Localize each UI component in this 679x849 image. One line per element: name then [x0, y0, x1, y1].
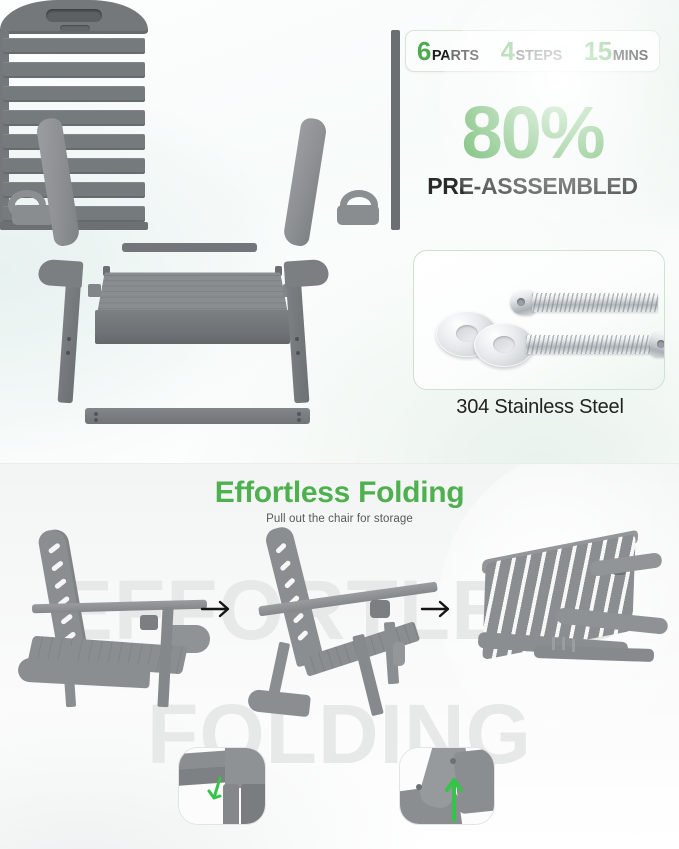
badge-steps-number: 4 — [501, 38, 515, 64]
washer-icon — [474, 323, 534, 367]
back-slat — [3, 62, 145, 78]
detail-bolt — [416, 784, 422, 790]
cross-rail — [122, 243, 257, 252]
seat-assembly — [95, 270, 290, 345]
exploded-chair-diagram — [0, 0, 400, 460]
cupholder-pad-left — [12, 205, 54, 225]
backrest-slot — [297, 630, 309, 642]
badge-mins: 15 MINS — [584, 38, 648, 64]
badge-parts: 6 PARTS — [417, 38, 479, 64]
bolt-shaft — [526, 335, 654, 354]
backrest-slot — [51, 560, 64, 572]
chair-step-folded — [478, 549, 668, 674]
bolt-icon — [526, 335, 665, 354]
chair-hinge — [140, 615, 158, 630]
backrest-slot — [60, 613, 73, 625]
pre-assembled-caption: PRE-ASSSEMBLED — [405, 175, 660, 198]
seat-lower-rail — [95, 330, 290, 344]
bolt-head — [650, 332, 665, 357]
detail-back-leg — [225, 747, 266, 788]
carry-handle-cutout — [46, 9, 102, 22]
chair-back-panel — [0, 0, 148, 222]
pre-assembled-percent: 80% — [405, 96, 660, 170]
arrow-1 — [200, 597, 234, 621]
badge-mins-label: MINS — [613, 49, 648, 64]
bottom-brace — [85, 408, 310, 424]
back-slat — [3, 110, 145, 126]
brace-bolt-hole — [94, 418, 98, 422]
spec-badge-bar: 6 PARTS 4 STEPS 15 MINS — [405, 30, 660, 72]
folded-pin — [562, 637, 565, 650]
washer-hole — [493, 336, 515, 353]
back-rail-left — [0, 30, 9, 230]
chair-step-open — [12, 529, 222, 709]
green-arrow-icon — [207, 776, 229, 810]
folding-demo-section: EFFORTLESS FOLDING Effortless Folding Pu… — [0, 463, 679, 849]
right-leg — [286, 275, 310, 404]
back-rail-right — [391, 30, 400, 230]
hardware-material-label: 304 Stainless Steel — [405, 396, 675, 419]
right-armrest — [282, 117, 328, 247]
bolt-shaft — [532, 293, 658, 312]
leg-foot — [38, 259, 84, 288]
leg-foot — [284, 259, 330, 288]
hardware-photo-panel — [413, 250, 665, 390]
chair-backrest — [263, 525, 324, 668]
green-arrow-icon — [444, 774, 464, 822]
callout-hinge-detail — [399, 747, 495, 825]
brace-bolt-hole — [297, 418, 301, 422]
badge-steps-label: STEPS — [516, 49, 563, 64]
back-slat — [3, 134, 145, 150]
backrest-slot — [284, 577, 296, 589]
backrest-slot — [279, 560, 291, 572]
back-slat — [3, 86, 145, 102]
seat-front-rail — [95, 310, 290, 332]
left-leg — [58, 275, 82, 404]
callout-latch-detail — [178, 747, 266, 825]
badge-steps: 4 STEPS — [501, 38, 563, 64]
chair-hinge — [370, 600, 390, 618]
back-slat — [3, 38, 145, 54]
armrest-body — [282, 117, 328, 247]
assembly-overview-section: 6 PARTS 4 STEPS 15 MINS 80% PRE-ASSSEMBL… — [0, 0, 679, 463]
back-slat — [3, 158, 145, 174]
cupholder-pad-right — [337, 205, 379, 225]
brace-bolt-hole — [297, 412, 301, 416]
badge-mins-number: 15 — [584, 38, 612, 64]
seat-slat-surface — [97, 272, 288, 314]
chair-release-tab — [393, 642, 405, 666]
backrest-slot — [275, 542, 287, 554]
backrest-slot — [54, 578, 67, 590]
bolt-icon — [510, 293, 660, 312]
detail-leg-post-2 — [241, 784, 266, 825]
brand-emboss — [60, 25, 90, 32]
folded-pin — [552, 637, 555, 650]
folding-section-title: Effortless Folding — [0, 476, 679, 510]
badge-parts-label: PARTS — [432, 49, 479, 64]
backrest-slot — [48, 542, 61, 554]
badge-parts-number: 6 — [417, 38, 431, 64]
spacer-block-left — [88, 284, 101, 297]
folded-pin — [572, 639, 575, 652]
infographic-page: 6 PARTS 4 STEPS 15 MINS 80% PRE-ASSSEMBL… — [0, 0, 679, 849]
backrest-slot — [292, 612, 304, 624]
chair-front-rail — [247, 689, 311, 717]
detail-bolt — [450, 758, 456, 764]
arrow-2 — [420, 597, 454, 621]
brace-bolt-hole — [94, 412, 98, 416]
